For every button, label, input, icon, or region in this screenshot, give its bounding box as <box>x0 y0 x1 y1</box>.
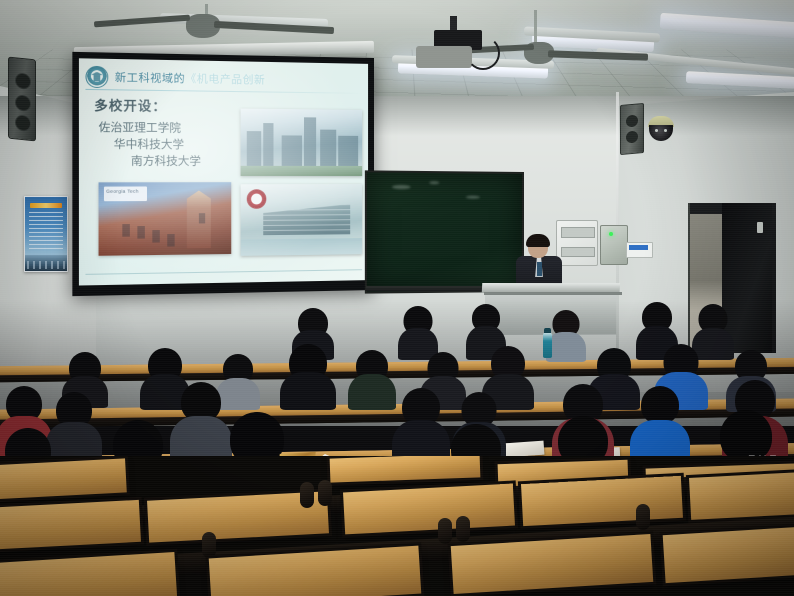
presenter-tie <box>537 262 542 276</box>
chalk-smudge <box>466 196 480 199</box>
dome-security-camera <box>648 116 674 141</box>
foreground-desk-rows <box>0 456 794 596</box>
poster-text-lines <box>29 212 63 252</box>
electrical-distribution-panel <box>556 220 598 266</box>
poster-title-bar <box>30 203 62 208</box>
speaker-driver <box>15 114 31 132</box>
slide-title-main: 新工科视域的 <box>115 71 185 85</box>
sustech-building-photo <box>241 184 363 256</box>
university-seal-logo <box>85 65 108 87</box>
desk-divider-knob <box>300 482 314 508</box>
student-head <box>641 386 679 424</box>
gt-window <box>152 230 159 243</box>
hust-building <box>304 117 316 166</box>
student <box>546 310 586 362</box>
projector-cable <box>466 36 500 70</box>
sustech-seal <box>247 189 267 208</box>
camera-lens <box>664 129 667 132</box>
projector-body <box>416 46 472 68</box>
student <box>348 350 396 410</box>
panel-status-led <box>609 232 613 236</box>
desk-divider-knob <box>636 504 650 530</box>
camera-lens <box>655 129 658 132</box>
sustech-water-plaza <box>241 238 363 256</box>
hust-building <box>320 130 336 166</box>
slide-footer-rule <box>85 269 362 275</box>
gt-window <box>122 224 130 237</box>
fan-rod <box>534 10 537 44</box>
speaker-driver <box>626 130 638 143</box>
panel-slot <box>561 227 595 238</box>
desk-top <box>0 458 127 499</box>
georgia-tech-building-photo: Georgia Tech <box>99 182 232 256</box>
desk-top <box>0 552 177 596</box>
ceiling-fan <box>140 4 270 38</box>
desk-top <box>343 484 515 535</box>
door-sign <box>757 222 763 233</box>
desk-divider-knob <box>318 480 332 506</box>
slide-title: 新工科视域的《机电产品创新 <box>115 69 266 87</box>
desk-top <box>0 500 141 550</box>
poster-campus-photo <box>25 255 67 271</box>
ceiling-projector <box>408 16 518 72</box>
slide-heading: 多校开设： <box>94 94 167 115</box>
student <box>630 386 690 464</box>
desk-divider-knob <box>438 518 452 544</box>
hust-building <box>263 123 273 166</box>
chalk-smudge <box>392 185 411 189</box>
hust-building <box>338 136 358 166</box>
desk-top <box>689 470 794 520</box>
list-item: 佐治亚理工学院 <box>99 119 201 136</box>
presenter-hair <box>526 234 550 247</box>
sustech-main-building <box>263 204 350 235</box>
student-torso <box>280 372 336 410</box>
desk-top <box>663 525 794 583</box>
desk-top <box>330 456 481 483</box>
student-torso <box>546 332 586 362</box>
desk-top <box>521 476 683 526</box>
slide-university-list: 佐治亚理工学院 华中科技大学 南方科技大学 <box>99 119 201 169</box>
speaker-driver <box>15 72 31 90</box>
slide-title-faded: 《机电产品创新 <box>185 72 265 86</box>
speaker-driver <box>15 94 31 112</box>
student <box>280 344 336 410</box>
speaker-driver <box>626 114 638 127</box>
gt-window <box>167 234 174 247</box>
projection-screen: 新工科视域的《机电产品创新 多校开设： 佐治亚理工学院 华中科技大学 南方科技大… <box>79 58 368 285</box>
desk-divider-knob <box>456 516 470 542</box>
hust-campus-photo <box>241 108 363 176</box>
hust-greenery <box>241 166 363 176</box>
gt-window <box>137 226 144 239</box>
bottle-cap <box>544 328 551 333</box>
hust-building <box>247 131 261 166</box>
camera-dome <box>649 125 673 141</box>
green-blackboard <box>365 170 524 293</box>
left-wall-speaker <box>8 57 36 142</box>
wall-poster <box>24 196 68 272</box>
list-item: 华中科技大学 <box>99 136 201 153</box>
hust-building <box>282 135 302 166</box>
student-torso <box>348 374 396 410</box>
wall-plate-display <box>629 245 648 250</box>
podium-edge <box>484 292 622 295</box>
slide-header: 新工科视域的《机电产品创新 <box>85 64 364 93</box>
lecture-hall-photo: 新工科视域的《机电产品创新 多校开设： 佐治亚理工学院 华中科技大学 南方科技大… <box>0 0 794 596</box>
right-wall-speaker <box>620 103 644 155</box>
projection-screen-frame: 新工科视域的《机电产品创新 多校开设： 佐治亚理工学院 华中科技大学 南方科技大… <box>72 52 374 296</box>
ceiling-fan <box>520 10 670 50</box>
control-box-panel <box>600 225 628 265</box>
desk-divider-knob <box>202 532 216 558</box>
list-item: 南方科技大学 <box>99 153 201 170</box>
water-bottle <box>543 332 552 358</box>
gt-window <box>199 213 205 223</box>
georgia-tech-logo-badge: Georgia Tech <box>104 186 147 201</box>
chalk-smudge <box>429 181 439 184</box>
wall-control-plate[interactable] <box>626 242 653 258</box>
panel-slot <box>561 247 595 257</box>
